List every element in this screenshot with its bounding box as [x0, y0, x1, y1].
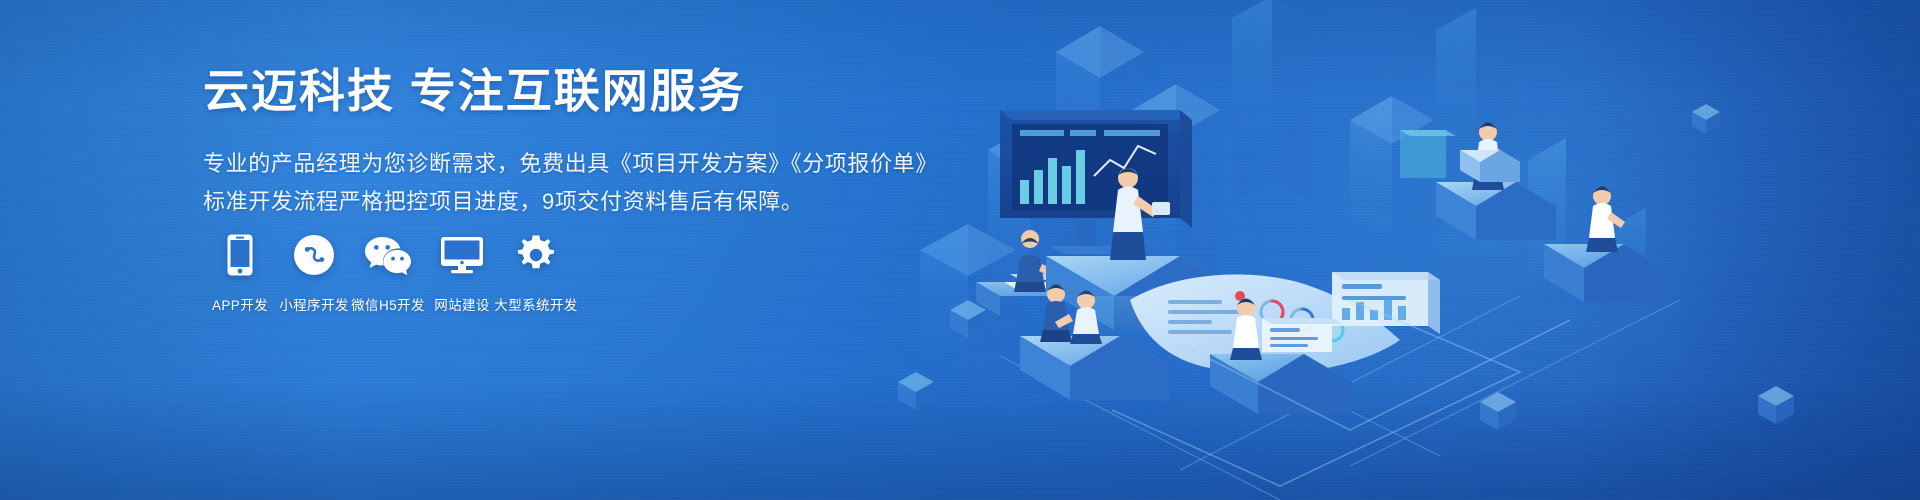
- platform-lower-left: [1020, 336, 1170, 400]
- subtitle-line-2: 标准开发流程严格把控项目进度，9项交付资料售后有保障。: [203, 184, 903, 220]
- hero-copy: 云迈科技 专注互联网服务 专业的产品经理为您诊断需求，免费出具《项目开发方案》《…: [203, 64, 903, 220]
- gear-icon: [499, 232, 573, 278]
- service-item-large-system[interactable]: 大型系统开发: [499, 232, 573, 314]
- monitor-icon: [425, 232, 499, 278]
- wechat-icon: [351, 232, 425, 278]
- service-label-app: APP开发: [212, 294, 268, 314]
- service-item-website[interactable]: 网站建设: [425, 232, 499, 314]
- mini-program-icon: [277, 232, 351, 278]
- mobile-phone-icon: [203, 232, 277, 278]
- service-label-website: 网站建设: [434, 294, 490, 314]
- subtitle-line-1: 专业的产品经理为您诊断需求，免费出具《项目开发方案》《分项报价单》: [203, 146, 903, 182]
- screen-header-blocks: [1020, 130, 1160, 136]
- service-label-wechat-h5: 微信H5开发: [351, 294, 425, 314]
- hero-banner: 云迈科技 专注互联网服务 专业的产品经理为您诊断需求，免费出具《项目开发方案》《…: [0, 0, 1920, 500]
- service-item-app[interactable]: APP开发: [203, 232, 277, 314]
- floating-analytics-card: [1332, 272, 1440, 334]
- service-item-miniprogram[interactable]: 小程序开发: [277, 232, 351, 314]
- page-title: 云迈科技 专注互联网服务: [203, 64, 903, 118]
- service-icon-row: APP开发 小程序开发: [203, 232, 573, 314]
- service-label-miniprogram: 小程序开发: [279, 294, 349, 314]
- floating-mini-screen: [1262, 318, 1342, 352]
- illustration-isometric-digital-office: [880, 0, 1920, 500]
- service-item-wechat-h5[interactable]: 微信H5开发: [351, 232, 425, 314]
- service-label-large-system: 大型系统开发: [494, 294, 577, 314]
